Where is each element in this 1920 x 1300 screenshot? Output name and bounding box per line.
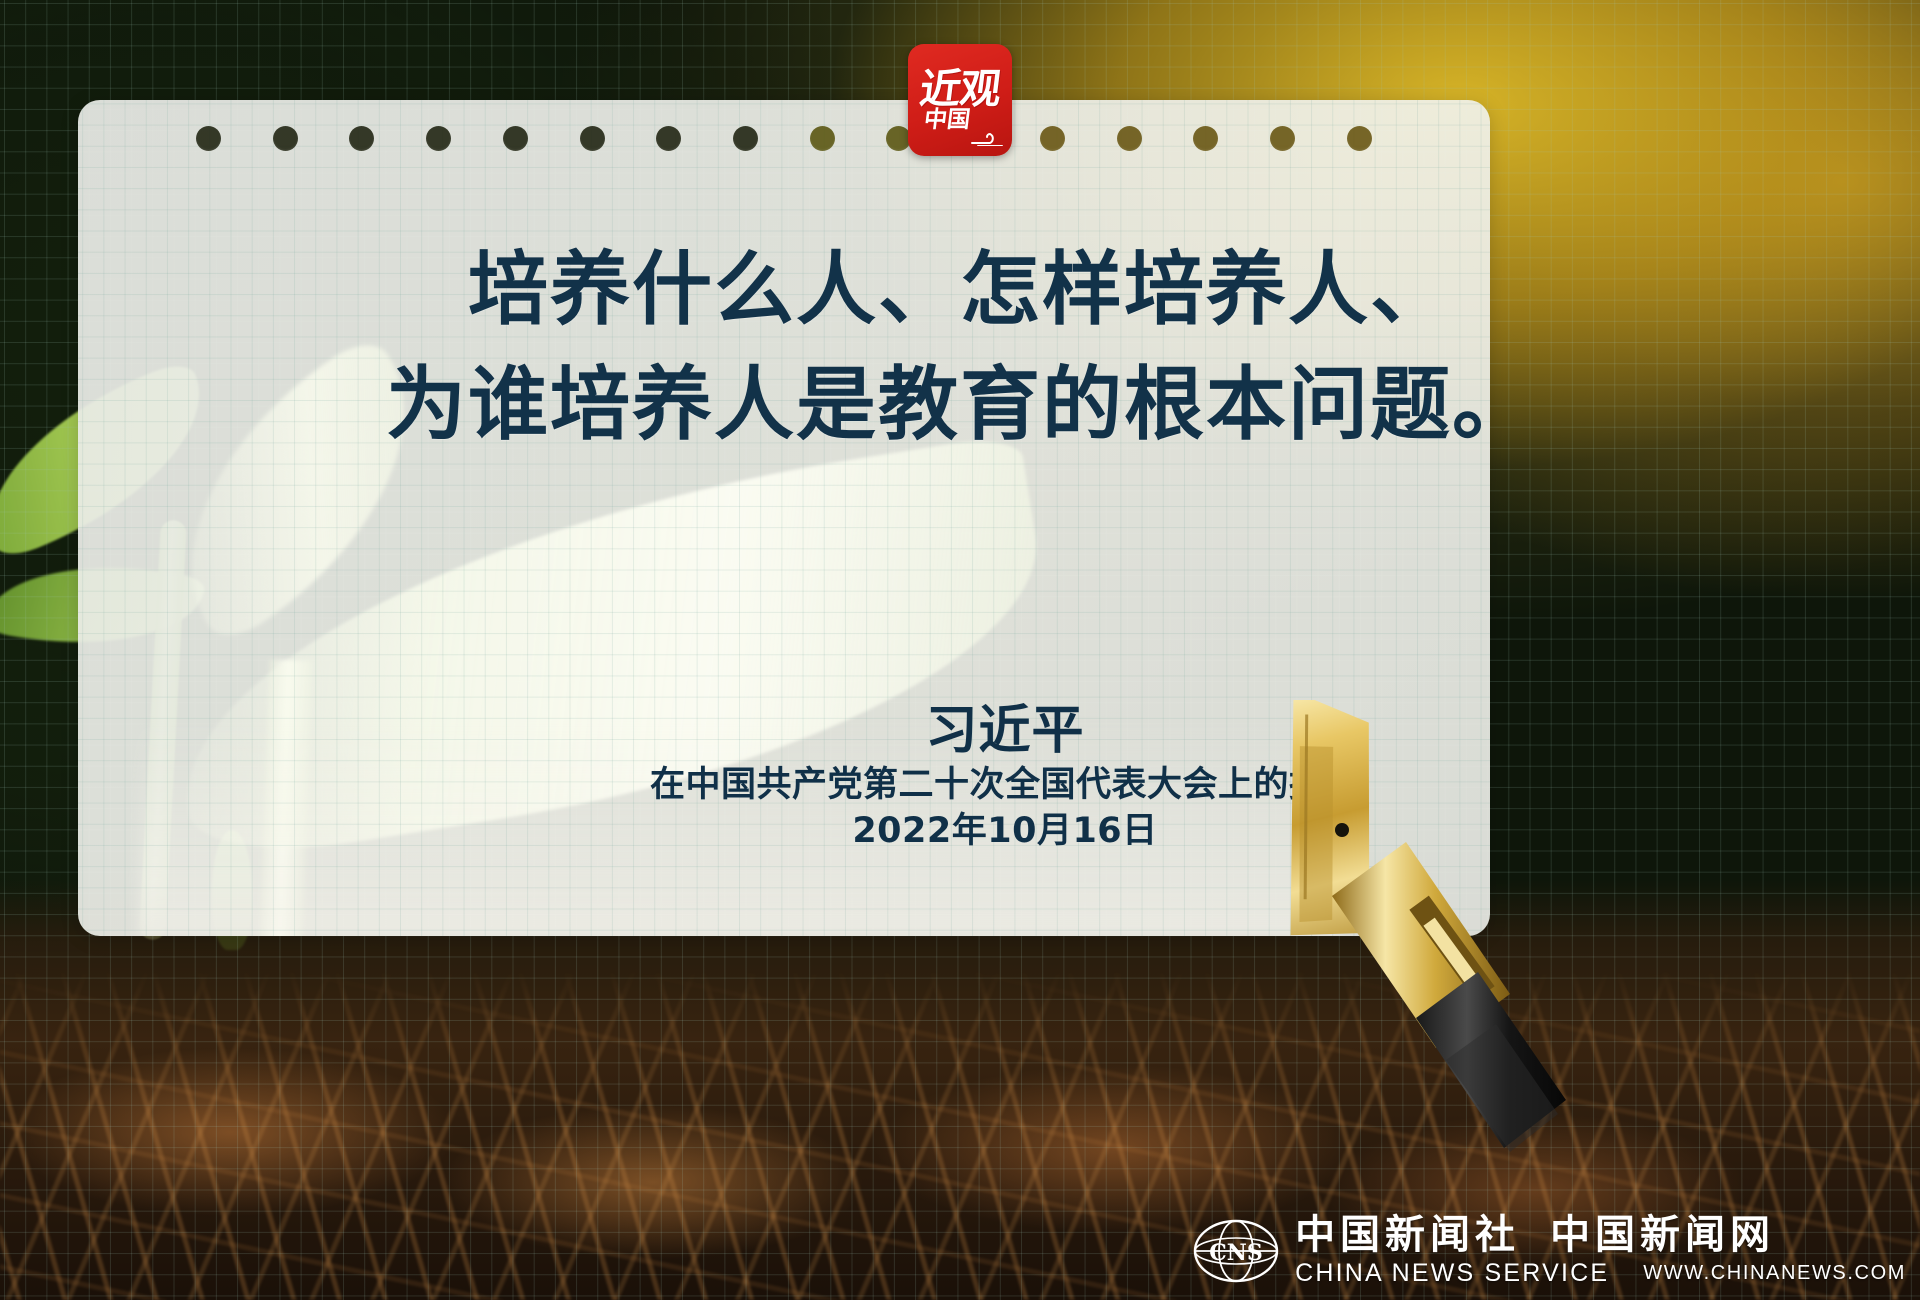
- punch-hole: [426, 126, 451, 151]
- punch-hole: [1040, 126, 1065, 151]
- cns-agency-en: CHINA NEWS SERVICE: [1295, 1259, 1609, 1288]
- cloud-swirl-icon: [970, 130, 1004, 146]
- punch-hole: [1347, 126, 1372, 151]
- punch-hole: [1270, 126, 1295, 151]
- punch-hole: [810, 126, 835, 151]
- speaker-name: 习近平: [90, 700, 1920, 763]
- punch-hole-row: [78, 126, 1490, 160]
- cns-globe-text: CNS: [1209, 1240, 1263, 1266]
- punch-hole: [503, 126, 528, 151]
- date-line: 2022年10月16日: [90, 809, 1920, 855]
- quote-text: 培养什么人、怎样培养人、 为谁培养人是教育的根本问题。: [0, 232, 1920, 462]
- cns-agency-cn: 中国新闻社: [1295, 1214, 1520, 1256]
- poster-canvas: 培养什么人、怎样培养人、 为谁培养人是教育的根本问题。 习近平 在中国共产党第二…: [0, 0, 1920, 1300]
- punch-hole: [580, 126, 605, 151]
- punch-hole: [196, 126, 221, 151]
- punch-hole: [349, 126, 374, 151]
- source-line: 在中国共产党第二十次全国代表大会上的报告: [90, 763, 1920, 809]
- cns-chinese-row: 中国新闻社 中国新闻网: [1295, 1214, 1906, 1256]
- quote-line-2: 为谁培养人是教育的根本问题。: [0, 347, 1920, 462]
- cns-watermark: CNS 中国新闻社 中国新闻网 CHINA NEWS SERVICE WWW.C…: [1193, 1214, 1906, 1288]
- jinguan-zhongguo-logo[interactable]: 近观 中国: [908, 44, 1012, 156]
- fountain-pen-nib-icon: [1210, 700, 1570, 1180]
- punch-hole: [656, 126, 681, 151]
- attribution-block: 习近平 在中国共产党第二十次全国代表大会上的报告 2022年10月16日: [0, 700, 1920, 854]
- punch-hole: [733, 126, 758, 151]
- punch-hole: [1193, 126, 1218, 151]
- logo-primary-text: 近观: [918, 70, 1003, 109]
- cns-latin-row: CHINA NEWS SERVICE WWW.CHINANEWS.COM: [1295, 1259, 1906, 1288]
- logo-secondary-text: 中国: [923, 109, 972, 132]
- quote-line-1: 培养什么人、怎样培养人、: [0, 232, 1920, 347]
- punch-hole: [273, 126, 298, 151]
- cns-site-cn: 中国新闻网: [1550, 1214, 1775, 1256]
- punch-hole: [1117, 126, 1142, 151]
- cns-text-block: 中国新闻社 中国新闻网 CHINA NEWS SERVICE WWW.CHINA…: [1295, 1214, 1906, 1288]
- cns-site-url: WWW.CHINANEWS.COM: [1643, 1262, 1906, 1285]
- cns-globe-icon: CNS: [1193, 1218, 1279, 1284]
